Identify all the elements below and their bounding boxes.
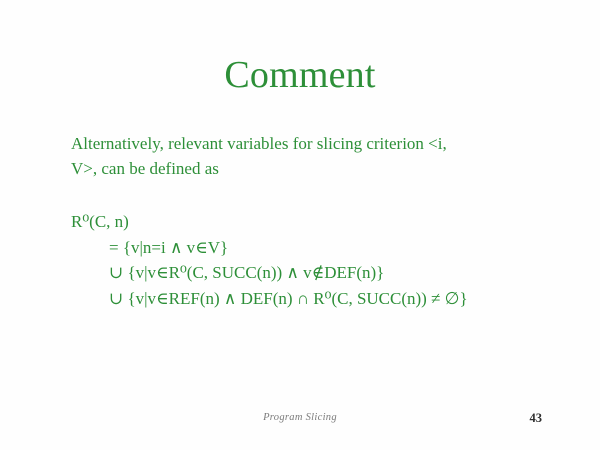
formula-line-equality: = {v|n=i ∧ v∈V} [71,235,571,261]
footer-title: Program Slicing [0,412,600,423]
body-line: Alternatively, relevant variables for sl… [71,131,531,156]
body-line: V>, can be defined as [71,156,531,181]
page-number: 43 [530,411,543,426]
slide: Comment Alternatively, relevant variable… [0,0,600,450]
formula-line-union-1: ∪ {v|v∈R⁰(C, SUCC(n)) ∧ v∉DEF(n)} [71,260,571,286]
body-paragraph: Alternatively, relevant variables for sl… [71,131,531,181]
slide-footer: Program Slicing 43 [0,412,600,432]
formula-line-union-2: ∪ {v|v∈REF(n) ∧ DEF(n) ∩ R⁰(C, SUCC(n)) … [71,286,571,312]
page-title: Comment [0,52,600,98]
formula-definition: R⁰(C, n) = {v|n=i ∧ v∈V} ∪ {v|v∈R⁰(C, SU… [71,209,571,311]
formula-line-head: R⁰(C, n) [71,209,571,235]
